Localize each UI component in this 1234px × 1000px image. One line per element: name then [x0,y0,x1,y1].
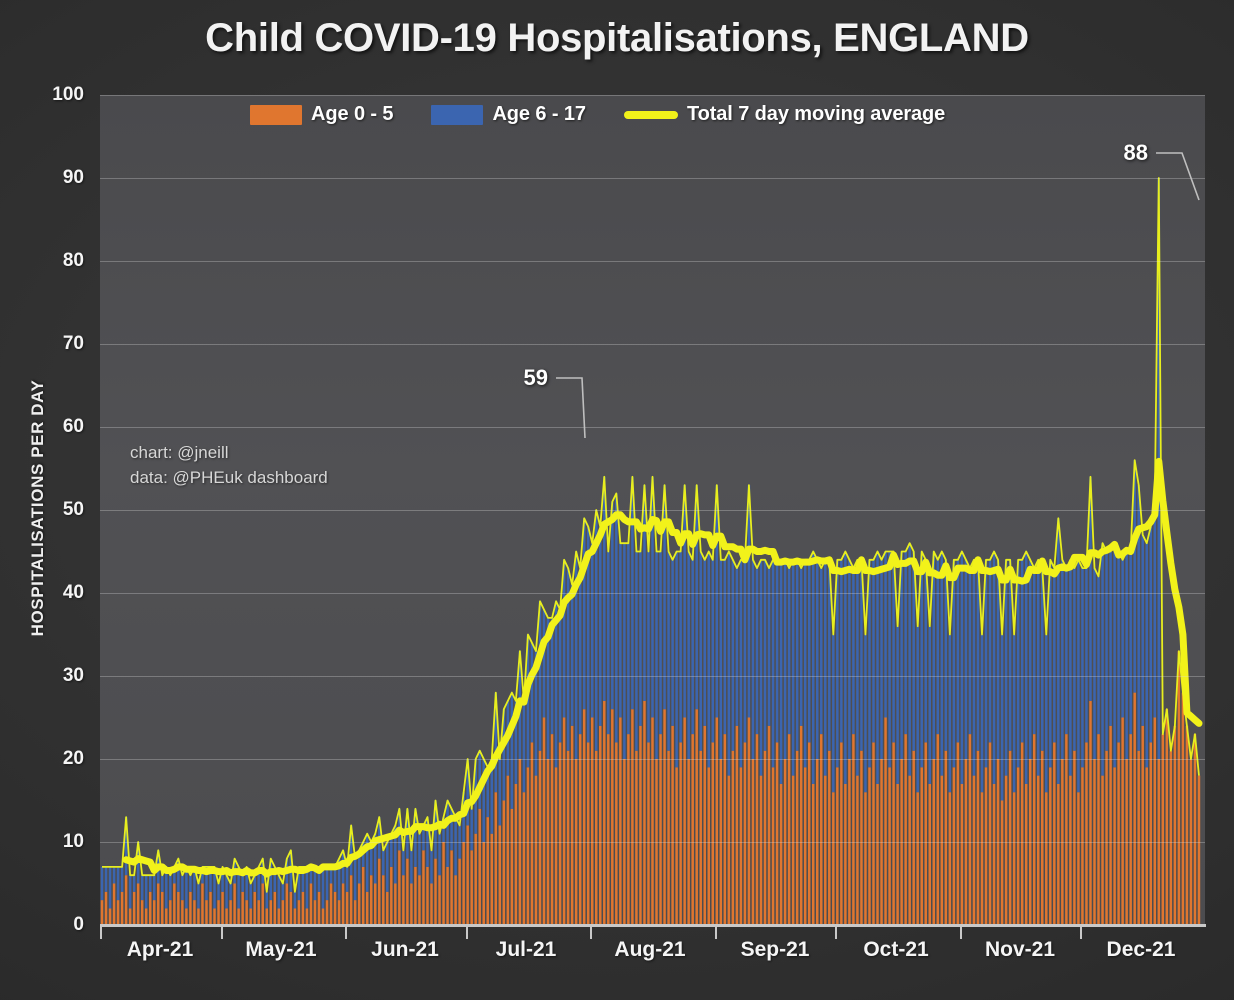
gridline [100,510,1205,511]
bar-segment-age-6-17 [1081,568,1083,767]
bar-segment-age-6-17 [1125,552,1127,760]
bar-segment-age-0-5 [121,892,123,925]
bar-segment-age-0-5 [398,850,400,925]
x-axis-tick [466,925,468,939]
bar-segment-age-0-5 [993,784,995,925]
bar-segment-age-0-5 [330,884,332,926]
bar-segment-age-6-17 [796,560,798,751]
bar-segment-age-0-5 [615,742,617,925]
bar-segment-age-6-17 [591,543,593,717]
bar-segment-age-0-5 [820,734,822,925]
bar-segment-age-6-17 [197,884,199,909]
bar-segment-age-6-17 [1105,552,1107,751]
bar-segment-age-0-5 [1021,742,1023,925]
attribution-chart-line: chart: @jneill [130,440,328,465]
bar-segment-age-0-5 [924,742,926,925]
bar-segment-age-0-5 [788,734,790,925]
x-axis-tick [715,925,717,939]
bar-segment-age-6-17 [229,884,231,901]
bar-segment-age-6-17 [808,560,810,743]
bar-segment-age-6-17 [679,552,681,743]
bar-segment-age-6-17 [438,834,440,876]
bar-segment-age-0-5 [362,867,364,925]
bar-segment-age-6-17 [768,568,770,726]
bar-segment-age-6-17 [446,801,448,867]
bar-segment-age-0-5 [780,784,782,925]
bar-segment-age-6-17 [904,552,906,735]
bar-segment-age-0-5 [474,834,476,925]
bar-segment-age-6-17 [764,560,766,751]
bar-segment-age-6-17 [961,552,963,784]
bar-segment-age-6-17 [266,892,268,909]
x-axis-tick-label: Oct-21 [863,938,928,962]
x-axis-tick [221,925,223,939]
x-axis-tick-label: Dec-21 [1107,938,1176,962]
bar-segment-age-6-17 [703,560,705,726]
legend-color-swatch [250,105,302,125]
bar-segment-age-0-5 [679,742,681,925]
y-axis-tick-label: 50 [0,499,84,521]
bar-segment-age-0-5 [105,892,107,925]
bar-segment-age-0-5 [760,776,762,925]
bar-segment-age-0-5 [949,792,951,925]
bar-segment-age-0-5 [1101,776,1103,925]
bar-segment-age-0-5 [438,875,440,925]
legend-item[interactable]: Age 0 - 5 [250,103,393,126]
x-axis-tick-label: Apr-21 [127,938,194,962]
annotation-value-label: 88 [1124,140,1148,166]
bar-segment-age-0-5 [201,884,203,926]
bar-segment-age-0-5 [916,792,918,925]
bar-segment-age-6-17 [880,560,882,759]
bar-segment-age-6-17 [888,552,890,768]
bar-segment-age-0-5 [286,884,288,926]
bar-segment-age-0-5 [920,767,922,925]
y-axis-tick-label: 100 [0,84,84,106]
bar-segment-age-0-5 [973,776,975,925]
bar-segment-age-6-17 [121,867,123,892]
bar-segment-age-6-17 [607,552,609,735]
bar-segment-age-6-17 [691,560,693,734]
bar-segment-age-0-5 [185,908,187,925]
bar-segment-age-0-5 [1041,751,1043,925]
bar-segment-age-0-5 [253,892,255,925]
bar-segment-age-0-5 [478,809,480,925]
bar-segment-age-0-5 [699,751,701,925]
bar-segment-age-0-5 [647,742,649,925]
bar-segment-age-6-17 [346,867,348,892]
bar-segment-age-0-5 [756,734,758,925]
bar-segment-age-0-5 [241,892,243,925]
bar-segment-age-6-17 [937,560,939,734]
bar-segment-age-6-17 [844,552,846,784]
bar-segment-age-0-5 [278,908,280,925]
bar-segment-age-0-5 [181,900,183,925]
gridline [100,344,1205,345]
bar-segment-age-0-5 [724,734,726,925]
bar-segment-age-0-5 [274,892,276,925]
bar-segment-age-0-5 [555,767,557,925]
bar-segment-age-0-5 [888,767,890,925]
bar-segment-age-0-5 [173,884,175,926]
y-axis-tick-label: 60 [0,416,84,438]
bar-segment-age-0-5 [1194,734,1196,925]
y-axis-tick-label: 20 [0,748,84,770]
bar-segment-age-6-17 [410,850,412,883]
bar-segment-age-0-5 [418,875,420,925]
bar-segment-age-6-17 [1053,568,1055,742]
bar-segment-age-0-5 [1182,693,1184,925]
bar-segment-age-6-17 [840,560,842,743]
bar-segment-age-6-17 [981,635,983,793]
bar-segment-age-0-5 [454,875,456,925]
bar-segment-age-0-5 [213,908,215,925]
bar-segment-age-0-5 [495,792,497,925]
bar-segment-age-0-5 [318,892,320,925]
attribution-data-line: data: @PHEuk dashboard [130,465,328,490]
bar-segment-age-6-17 [848,560,850,759]
bar-segment-age-0-5 [712,742,714,925]
bar-segment-age-0-5 [1017,767,1019,925]
legend-color-swatch [431,105,483,125]
bar-segment-age-0-5 [515,784,517,925]
bar-segment-age-0-5 [1145,767,1147,925]
bar-segment-age-0-5 [1065,734,1067,925]
bar-segment-age-0-5 [591,718,593,926]
bar-segment-age-0-5 [1037,776,1039,925]
bar-segment-age-0-5 [603,701,605,925]
x-axis-tick [590,925,592,939]
bar-segment-age-6-17 [294,892,296,909]
y-axis-tick-label: 90 [0,167,84,189]
bar-segment-age-6-17 [543,610,545,718]
bar-segment-age-0-5 [969,734,971,925]
bar-segment-age-6-17 [1154,502,1156,718]
bar-segment-age-0-5 [953,767,955,925]
x-axis-tick [100,925,102,939]
x-axis-tick-label: Nov-21 [985,938,1055,962]
x-axis-tick [960,925,962,939]
attribution-note: chart: @jneill data: @PHEuk dashboard [130,440,328,490]
bar-segment-age-0-5 [1097,734,1099,925]
bar-segment-age-0-5 [728,776,730,925]
bar-segment-age-6-17 [784,560,786,759]
bar-segment-age-0-5 [482,842,484,925]
bar-segment-age-0-5 [1025,784,1027,925]
bar-segment-age-6-17 [454,817,456,875]
bar-segment-age-0-5 [1005,776,1007,925]
bar-segment-age-0-5 [487,817,489,925]
bar-segment-age-0-5 [117,900,119,925]
bar-segment-age-0-5 [611,709,613,925]
bar-segment-age-0-5 [298,900,300,925]
bar-segment-age-6-17 [800,568,802,726]
bar-segment-age-6-17 [278,875,280,908]
bar-segment-age-0-5 [744,742,746,925]
bar-segment-age-6-17 [623,543,625,759]
bar-segment-age-6-17 [615,493,617,742]
bar-segment-age-6-17 [101,867,103,900]
bar-segment-age-6-17 [109,867,111,909]
bar-segment-age-6-17 [804,560,806,768]
legend-item[interactable]: Age 6 - 17 [431,103,585,126]
bar-segment-age-6-17 [1029,560,1031,759]
bar-segment-age-6-17 [1097,576,1099,734]
bar-segment-age-6-17 [418,834,420,876]
bar-segment-age-0-5 [808,742,810,925]
bar-segment-age-0-5 [507,776,509,925]
bar-segment-age-0-5 [165,908,167,925]
bar-segment-age-0-5 [896,784,898,925]
bar-segment-age-6-17 [523,701,525,792]
bar-segment-age-6-17 [1109,552,1111,726]
bar-segment-age-0-5 [310,884,312,926]
bar-segment-age-6-17 [864,635,866,793]
bar-segment-age-0-5 [587,742,589,925]
bar-segment-age-6-17 [1141,535,1143,726]
bar-segment-age-6-17 [1001,635,1003,801]
bar-segment-age-6-17 [732,560,734,751]
bar-segment-age-6-17 [941,552,943,776]
bar-segment-age-0-5 [1174,726,1176,925]
bar-segment-age-6-17 [949,635,951,793]
bar-segment-age-0-5 [1013,792,1015,925]
bar-segment-age-0-5 [193,900,195,925]
bar-segment-age-6-17 [499,759,501,825]
bar-segment-age-6-17 [699,552,701,751]
bar-segment-age-6-17 [872,560,874,743]
bar-segment-age-0-5 [382,875,384,925]
legend-label: Total 7 day moving average [687,103,945,126]
bar-segment-age-0-5 [149,892,151,925]
bar-segment-age-0-5 [503,801,505,926]
bar-segment-age-0-5 [635,751,637,925]
bar-segment-age-6-17 [141,875,143,900]
bar-segment-age-0-5 [1170,751,1172,925]
bar-segment-age-0-5 [828,751,830,925]
bar-segment-age-0-5 [708,767,710,925]
bar-segment-age-0-5 [1069,776,1071,925]
bar-segment-age-0-5 [450,850,452,925]
bar-segment-age-0-5 [904,734,906,925]
bar-segment-age-0-5 [1049,767,1051,925]
bar-segment-age-0-5 [796,751,798,925]
bar-segment-age-6-17 [832,635,834,793]
bar-segment-age-0-5 [1121,718,1123,926]
bar-segment-age-6-17 [1093,568,1095,759]
bar-segment-age-0-5 [1166,709,1168,925]
bar-segment-age-6-17 [1021,560,1023,743]
bar-segment-age-0-5 [270,900,272,925]
bar-segment-age-0-5 [1109,726,1111,925]
bar-segment-age-0-5 [430,884,432,926]
bar-segment-age-0-5 [1129,734,1131,925]
bar-segment-age-0-5 [1137,751,1139,925]
bar-segment-age-0-5 [732,751,734,925]
bar-segment-age-0-5 [683,718,685,926]
bar-segment-age-0-5 [145,908,147,925]
bar-segment-age-0-5 [370,875,372,925]
bar-segment-age-6-17 [402,850,404,875]
bar-segment-age-0-5 [659,734,661,925]
bar-segment-age-0-5 [977,751,979,925]
bar-segment-age-0-5 [225,908,227,925]
bar-segment-age-6-17 [282,884,284,901]
bar-segment-age-0-5 [462,842,464,925]
bar-segment-age-6-17 [1073,568,1075,751]
bar-segment-age-0-5 [133,892,135,925]
bar-segment-age-0-5 [1073,751,1075,925]
bar-segment-age-6-17 [225,875,227,908]
bar-segment-age-0-5 [937,734,939,925]
bar-segment-age-6-17 [611,502,613,710]
bar-segment-age-0-5 [776,742,778,925]
bar-segment-age-6-17 [563,560,565,718]
bar-segment-age-6-17 [1025,552,1027,784]
bar-segment-age-6-17 [929,626,931,784]
bar-segment-age-0-5 [422,850,424,925]
bar-segment-age-0-5 [1162,734,1164,925]
bar-segment-age-0-5 [314,900,316,925]
bar-segment-age-0-5 [354,900,356,925]
bar-segment-age-6-17 [712,560,714,743]
bar-segment-age-0-5 [358,884,360,926]
bar-segment-age-0-5 [583,709,585,925]
bar-segment-age-0-5 [446,867,448,925]
bar-segment-age-0-5 [338,900,340,925]
bar-segment-age-6-17 [571,585,573,726]
bar-segment-age-6-17 [659,552,661,735]
bar-segment-age-0-5 [306,908,308,925]
bar-segment-age-0-5 [334,892,336,925]
bar-segment-age-6-17 [655,552,657,760]
bar-segment-age-0-5 [1141,726,1143,925]
bar-segment-age-6-17 [716,485,718,717]
bar-segment-age-0-5 [491,834,493,925]
bar-segment-age-0-5 [844,784,846,925]
chart-legend: Age 0 - 5Age 6 - 17Total 7 day moving av… [250,103,983,126]
bar-segment-age-0-5 [531,742,533,925]
bar-segment-age-0-5 [663,709,665,925]
bar-segment-age-0-5 [1105,751,1107,925]
bar-segment-age-0-5 [511,809,513,925]
bar-segment-age-6-17 [708,552,710,768]
bar-segment-age-0-5 [539,751,541,925]
bar-segment-age-0-5 [884,718,886,926]
bar-segment-age-6-17 [675,552,677,768]
bar-segment-age-0-5 [804,767,806,925]
bar-segment-age-0-5 [607,734,609,925]
bar-segment-age-0-5 [458,859,460,925]
bar-segment-age-6-17 [129,875,131,908]
bar-segment-age-0-5 [266,908,268,925]
bar-segment-age-0-5 [161,892,163,925]
bar-segment-age-0-5 [209,892,211,925]
bar-segment-age-0-5 [868,767,870,925]
bar-segment-age-0-5 [205,900,207,925]
x-axis-tick-label: Sep-21 [741,938,810,962]
bar-segment-age-6-17 [511,693,513,809]
bar-segment-age-0-5 [675,767,677,925]
bar-segment-age-0-5 [695,709,697,925]
gridline [100,842,1205,843]
bar-segment-age-0-5 [856,776,858,925]
bar-segment-age-0-5 [631,709,633,925]
bar-segment-age-0-5 [402,875,404,925]
bar-segment-age-0-5 [1133,693,1135,925]
bar-segment-age-0-5 [378,859,380,925]
bar-segment-age-0-5 [929,784,931,925]
y-axis-tick-label: 10 [0,831,84,853]
bar-segment-age-0-5 [221,892,223,925]
bar-segment-age-6-17 [161,875,163,892]
bar-segment-age-0-5 [567,751,569,925]
bar-segment-age-0-5 [876,784,878,925]
bar-segment-age-0-5 [703,726,705,925]
bar-segment-age-6-17 [470,809,472,851]
bar-segment-age-6-17 [776,560,778,743]
bar-segment-age-0-5 [985,767,987,925]
gridline [100,178,1205,179]
x-axis-tick-label: Jul-21 [496,938,557,962]
bar-segment-age-6-17 [133,875,135,892]
bar-segment-age-0-5 [1009,751,1011,925]
bar-segment-age-0-5 [282,900,284,925]
bar-segment-age-6-17 [671,560,673,726]
bar-segment-age-0-5 [1150,742,1152,925]
bar-segment-age-6-17 [993,552,995,784]
bar-segment-age-0-5 [671,726,673,925]
bar-segment-age-0-5 [261,884,263,926]
bar-segment-age-0-5 [864,792,866,925]
legend-label: Age 0 - 5 [311,103,393,126]
gridline [100,676,1205,677]
bar-segment-age-0-5 [249,908,251,925]
bar-segment-age-6-17 [627,543,629,734]
bar-segment-age-0-5 [852,734,854,925]
bar-segment-age-0-5 [1081,767,1083,925]
legend-item[interactable]: Total 7 day moving average [624,103,945,126]
bar-segment-age-0-5 [1178,651,1180,925]
gridline [100,95,1205,96]
bar-segment-age-6-17 [651,477,653,718]
bar-segment-age-6-17 [1150,527,1152,743]
bar-segment-age-0-5 [141,900,143,925]
bar-segment-age-0-5 [812,784,814,925]
x-axis-tick-label: Aug-21 [614,938,685,962]
bar-segment-age-0-5 [302,892,304,925]
bar-segment-age-6-17 [386,842,388,892]
bar-segment-age-0-5 [245,900,247,925]
bar-segment-age-0-5 [912,751,914,925]
bar-segment-age-0-5 [872,742,874,925]
bar-segment-age-6-17 [354,859,356,901]
bar-segment-age-0-5 [667,751,669,925]
chart-root: Child COVID-19 Hospitalisations, ENGLAND… [0,0,1234,1000]
bar-segment-age-6-17 [1101,543,1103,775]
bar-segment-age-6-17 [1045,635,1047,793]
bar-segment-age-0-5 [394,884,396,926]
bar-segment-age-6-17 [1085,568,1087,742]
bar-segment-age-6-17 [1145,543,1147,767]
bar-segment-age-0-5 [169,900,171,925]
bar-segment-age-0-5 [177,892,179,925]
bar-segment-age-0-5 [113,884,115,926]
bar-segment-age-0-5 [961,784,963,925]
bar-segment-age-0-5 [1186,726,1188,925]
bar-segment-age-0-5 [800,726,802,925]
bar-segment-age-6-17 [619,543,621,717]
